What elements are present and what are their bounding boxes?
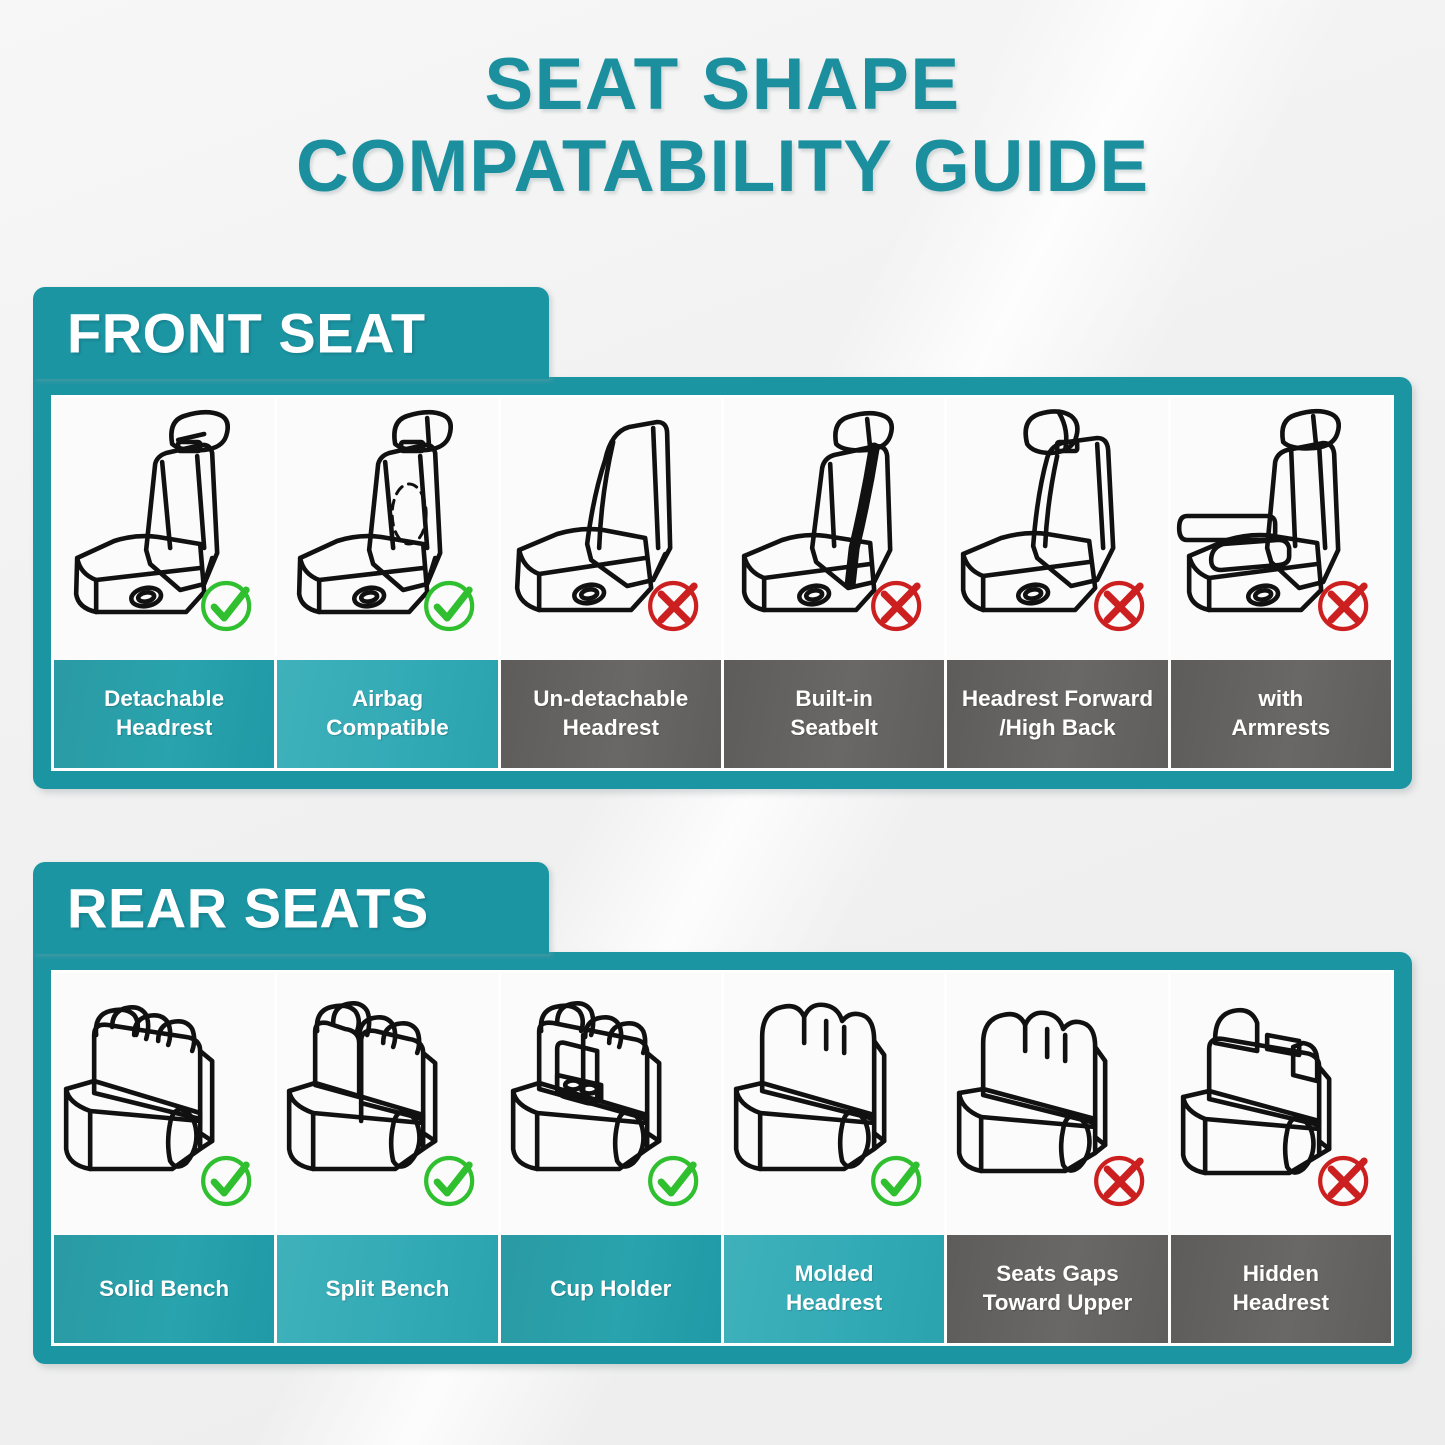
caption-line-1: Detachable bbox=[104, 685, 224, 714]
rear-cell-molded-headrest[interactable]: Molded Headrest bbox=[724, 973, 944, 1343]
rear-cell-solid-bench[interactable]: Solid Bench bbox=[54, 973, 274, 1343]
front-seat-section: FRONT SEAT bbox=[33, 287, 1412, 789]
front-caption-detachable-headrest: Detachable Headrest bbox=[54, 660, 274, 768]
front-caption-airbag-compatible: Airbag Compatible bbox=[277, 660, 497, 768]
caption-line-1: with bbox=[1258, 685, 1303, 714]
headrest-icon bbox=[835, 413, 891, 450]
red-cross-icon bbox=[1096, 583, 1142, 629]
red-cross-icon bbox=[1096, 1158, 1142, 1204]
caption-line-1: Seats Gaps bbox=[996, 1260, 1119, 1289]
green-check-icon bbox=[203, 583, 249, 629]
rear-seats-header-tab: REAR SEATS bbox=[33, 862, 549, 954]
front-seat-heading: FRONT SEAT bbox=[67, 301, 426, 366]
front-caption-with-armrests: with Armrests bbox=[1171, 660, 1391, 768]
caption-line-2: Headrest bbox=[1233, 1289, 1329, 1318]
front-seat-illustration-with-armrests bbox=[1171, 398, 1391, 660]
rear-cell-split-bench[interactable]: Split Bench bbox=[277, 973, 497, 1343]
front-cell-headrest-forward-high-back[interactable]: Headrest Forward /High Back bbox=[947, 398, 1167, 768]
front-seat-illustration-built-in-seatbelt bbox=[724, 398, 944, 660]
caption-line-2: Toward Upper bbox=[983, 1289, 1133, 1318]
seat-cushion-icon bbox=[517, 529, 651, 610]
rear-caption-seats-gaps-toward-upper: Seats Gaps Toward Upper bbox=[947, 1235, 1167, 1343]
front-cell-airbag-compatible[interactable]: Airbag Compatible bbox=[277, 398, 497, 768]
caption-line-2: Headrest bbox=[116, 714, 212, 743]
headrest-icon bbox=[1282, 411, 1338, 448]
rear-seat-illustration-hidden-headrest bbox=[1171, 973, 1391, 1235]
caption-line-2: Compatible bbox=[326, 714, 449, 743]
rear-caption-molded-headrest: Molded Headrest bbox=[724, 1235, 944, 1343]
caption-line-1: Molded bbox=[795, 1260, 874, 1289]
green-check-icon bbox=[873, 1158, 919, 1204]
front-cell-detachable-headrest[interactable]: Detachable Headrest bbox=[54, 398, 274, 768]
seat-cushion-icon bbox=[299, 536, 427, 612]
caption-line-2: Armrests bbox=[1231, 714, 1330, 743]
front-seat-illustration-detachable-headrest bbox=[54, 398, 274, 660]
front-seat-grid: Detachable Headrest bbox=[54, 398, 1391, 768]
red-cross-icon bbox=[873, 583, 919, 629]
caption-line-1: Airbag bbox=[352, 685, 423, 714]
rear-seat-illustration-molded-headrest bbox=[724, 973, 944, 1235]
caption-line-2: Seatbelt bbox=[790, 714, 878, 743]
caption-line-1: Split Bench bbox=[326, 1275, 450, 1304]
rear-seat-illustration-solid-bench bbox=[54, 973, 274, 1235]
rear-caption-hidden-headrest: Hidden Headrest bbox=[1171, 1235, 1391, 1343]
bench-headrests-icon bbox=[317, 1003, 419, 1053]
caption-line-1: Built-in bbox=[795, 685, 872, 714]
caption-line-2: Headrest bbox=[563, 714, 659, 743]
headrest-icon bbox=[395, 412, 451, 451]
front-caption-headrest-forward-high-back: Headrest Forward /High Back bbox=[947, 660, 1167, 768]
rear-seats-heading: REAR SEATS bbox=[67, 876, 429, 941]
front-cell-built-in-seatbelt[interactable]: Built-in Seatbelt bbox=[724, 398, 944, 768]
front-seat-panel: Detachable Headrest bbox=[33, 377, 1412, 789]
red-cross-icon bbox=[1320, 1158, 1366, 1204]
caption-line-1: Headrest Forward bbox=[962, 685, 1153, 714]
rear-seats-grid: Solid Bench bbox=[54, 973, 1391, 1343]
green-check-icon bbox=[203, 1158, 249, 1204]
seat-cushion-icon bbox=[1189, 535, 1321, 610]
page-title-line-2: COMPATABILITY GUIDE bbox=[0, 126, 1445, 208]
infographic-page: SEAT SHAPE COMPATABILITY GUIDE FRONT SEA… bbox=[0, 0, 1445, 1445]
page-title-line-1: SEAT SHAPE bbox=[0, 44, 1445, 126]
rear-seats-panel: Solid Bench bbox=[33, 952, 1412, 1364]
red-cross-icon bbox=[650, 583, 696, 629]
rear-cell-seats-gaps-toward-upper[interactable]: Seats Gaps Toward Upper bbox=[947, 973, 1167, 1343]
front-seat-header-tab: FRONT SEAT bbox=[33, 287, 549, 379]
page-title: SEAT SHAPE COMPATABILITY GUIDE bbox=[0, 44, 1445, 208]
caption-line-2: Headrest bbox=[786, 1289, 882, 1318]
rear-cell-hidden-headrest[interactable]: Hidden Headrest bbox=[1171, 973, 1391, 1343]
front-seat-illustration-airbag-compatible bbox=[277, 398, 497, 660]
rear-caption-solid-bench: Solid Bench bbox=[54, 1235, 274, 1343]
caption-line-1: Solid Bench bbox=[99, 1275, 229, 1304]
seat-cushion-icon bbox=[76, 536, 204, 612]
green-check-icon bbox=[426, 583, 472, 629]
airbag-zone-dashed-icon bbox=[392, 484, 426, 544]
front-seat-illustration-undetachable-headrest bbox=[501, 398, 721, 660]
rear-seat-illustration-split-bench bbox=[277, 973, 497, 1235]
front-cell-with-armrests[interactable]: with Armrests bbox=[1171, 398, 1391, 768]
rear-seat-illustration-seats-gaps-toward-upper bbox=[947, 973, 1167, 1235]
headrest-icon bbox=[171, 412, 227, 451]
caption-line-1: Un-detachable bbox=[533, 685, 688, 714]
front-cell-undetachable-headrest[interactable]: Un-detachable Headrest bbox=[501, 398, 721, 768]
front-caption-undetachable-headrest: Un-detachable Headrest bbox=[501, 660, 721, 768]
front-seat-illustration-headrest-forward-high-back bbox=[947, 398, 1167, 660]
rear-seats-section: REAR SEATS bbox=[33, 862, 1412, 1364]
front-caption-built-in-seatbelt: Built-in Seatbelt bbox=[724, 660, 944, 768]
red-cross-icon bbox=[1320, 583, 1366, 629]
rear-seat-illustration-cup-holder bbox=[501, 973, 721, 1235]
seat-cushion-icon bbox=[963, 533, 1095, 610]
caption-line-1: Hidden bbox=[1243, 1260, 1319, 1289]
rear-caption-cup-holder: Cup Holder bbox=[501, 1235, 721, 1343]
rear-cell-cup-holder[interactable]: Cup Holder bbox=[501, 973, 721, 1343]
caption-line-1: Cup Holder bbox=[550, 1275, 671, 1304]
green-check-icon bbox=[650, 1158, 696, 1204]
caption-line-2: /High Back bbox=[999, 714, 1115, 743]
green-check-icon bbox=[426, 1158, 472, 1204]
rear-caption-split-bench: Split Bench bbox=[277, 1235, 497, 1343]
